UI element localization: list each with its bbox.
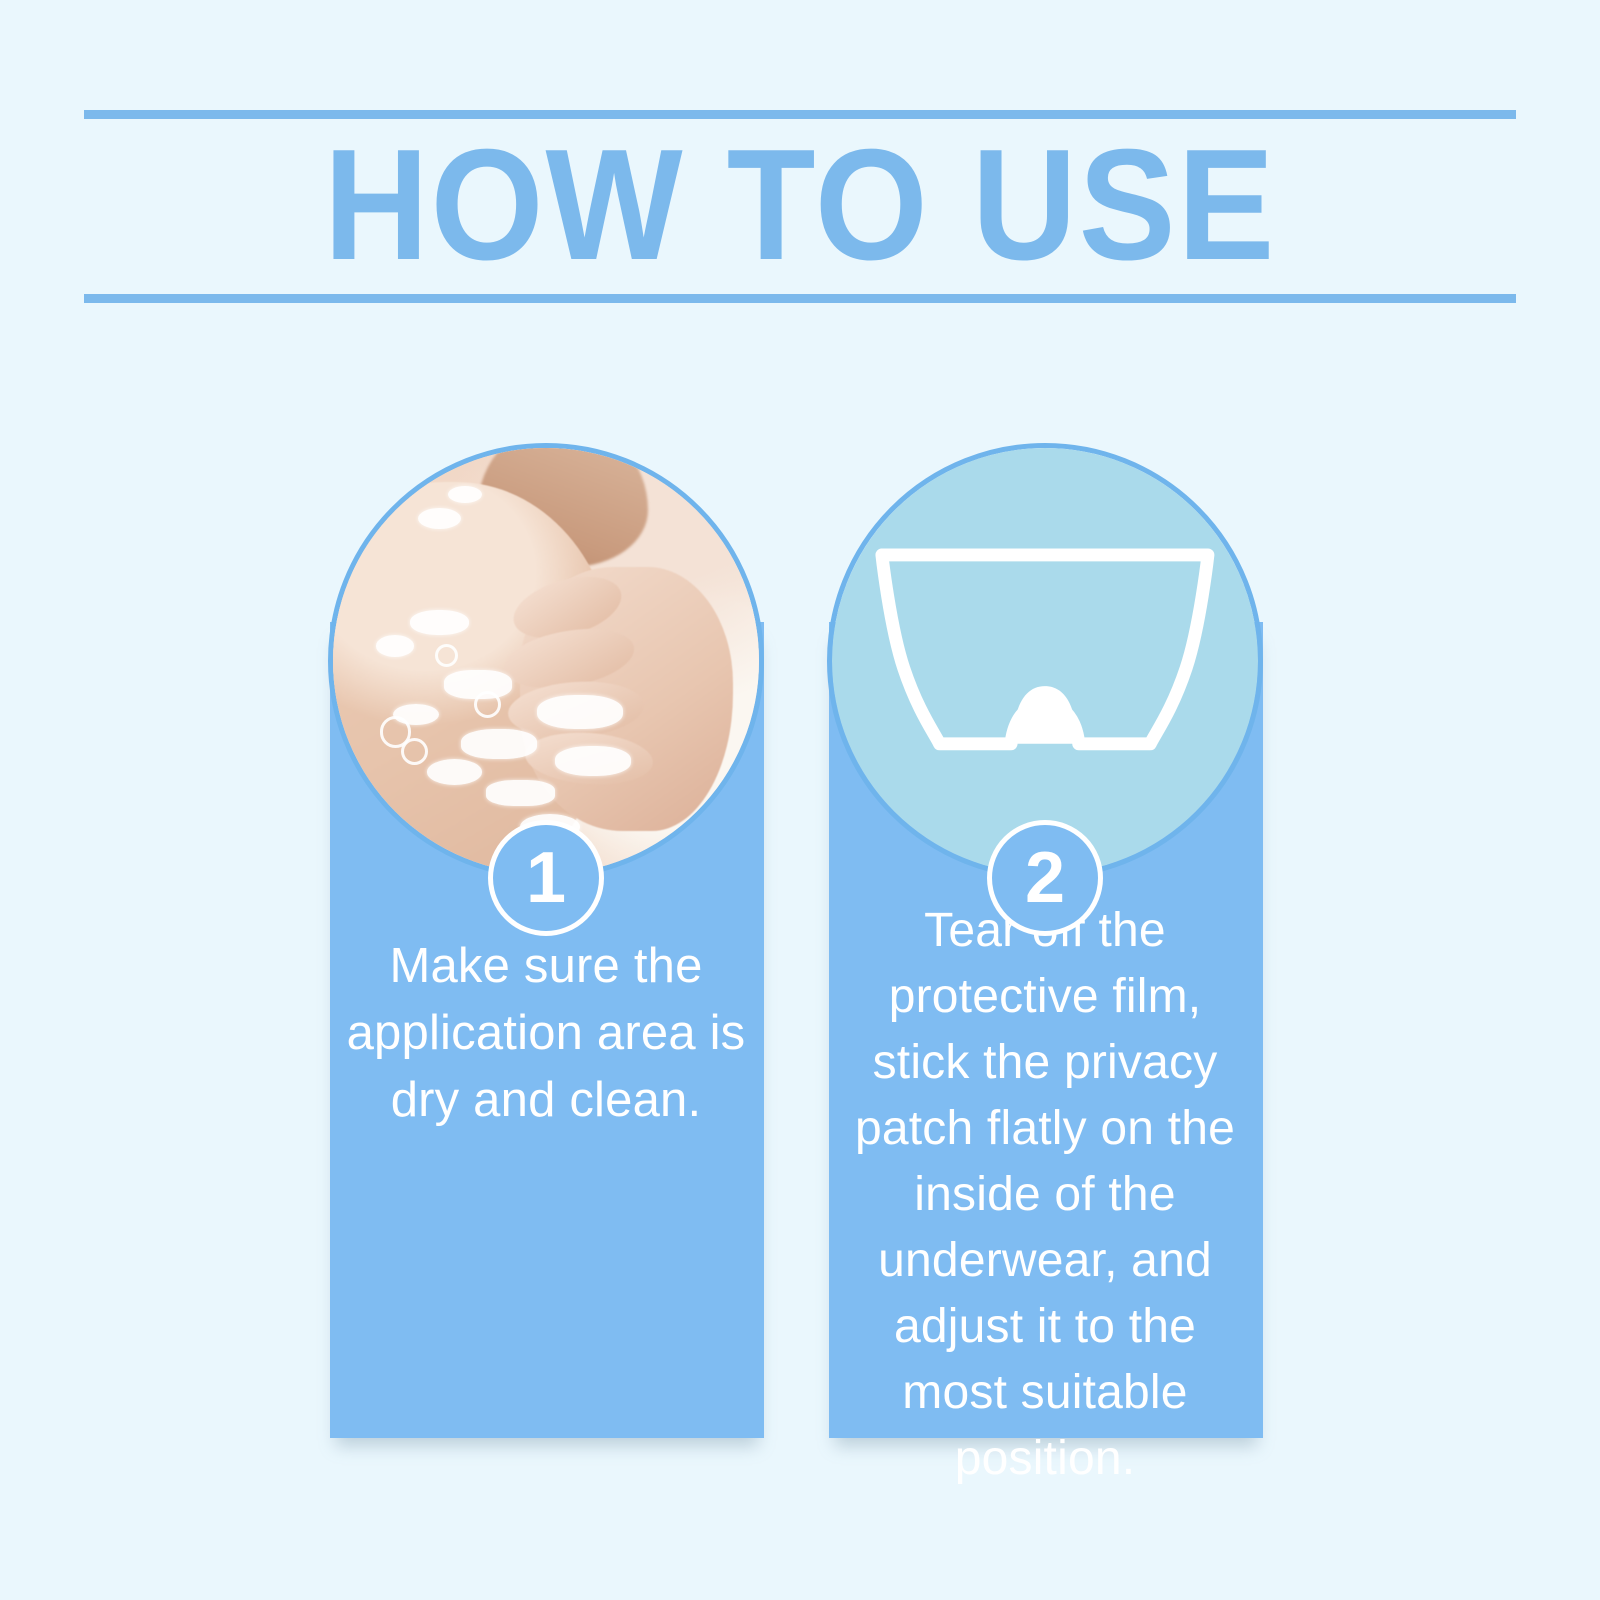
foam-blob <box>486 780 554 806</box>
header: HOW TO USE <box>84 110 1516 310</box>
step-caption-2: Tear off the protective film, stick the … <box>841 898 1249 1492</box>
foam-blob <box>427 759 482 785</box>
step-caption-1: Make sure the application area is dry an… <box>342 933 750 1134</box>
underwear-icon <box>866 525 1224 798</box>
step-1-media-circle <box>328 443 764 879</box>
step-2-media-circle <box>827 443 1263 879</box>
soapy-skin-photo <box>333 448 759 874</box>
foam-blob <box>418 508 461 529</box>
title-rule-bottom <box>84 294 1516 303</box>
foam-blob <box>537 695 622 729</box>
page-title: HOW TO USE <box>141 120 1458 290</box>
step-number-badge-2: 2 <box>987 820 1103 936</box>
foam-blob <box>410 610 470 636</box>
foam-blob <box>376 635 414 656</box>
foam-blob <box>555 746 632 776</box>
step-card-2: 2 Tear off the protective film, stick th… <box>827 443 1263 1438</box>
step-number-badge-1: 1 <box>488 820 604 936</box>
foam-blob <box>461 729 538 759</box>
step-card-1: 1 Make sure the application area is dry … <box>328 443 764 1438</box>
foam-bubble <box>474 691 501 718</box>
